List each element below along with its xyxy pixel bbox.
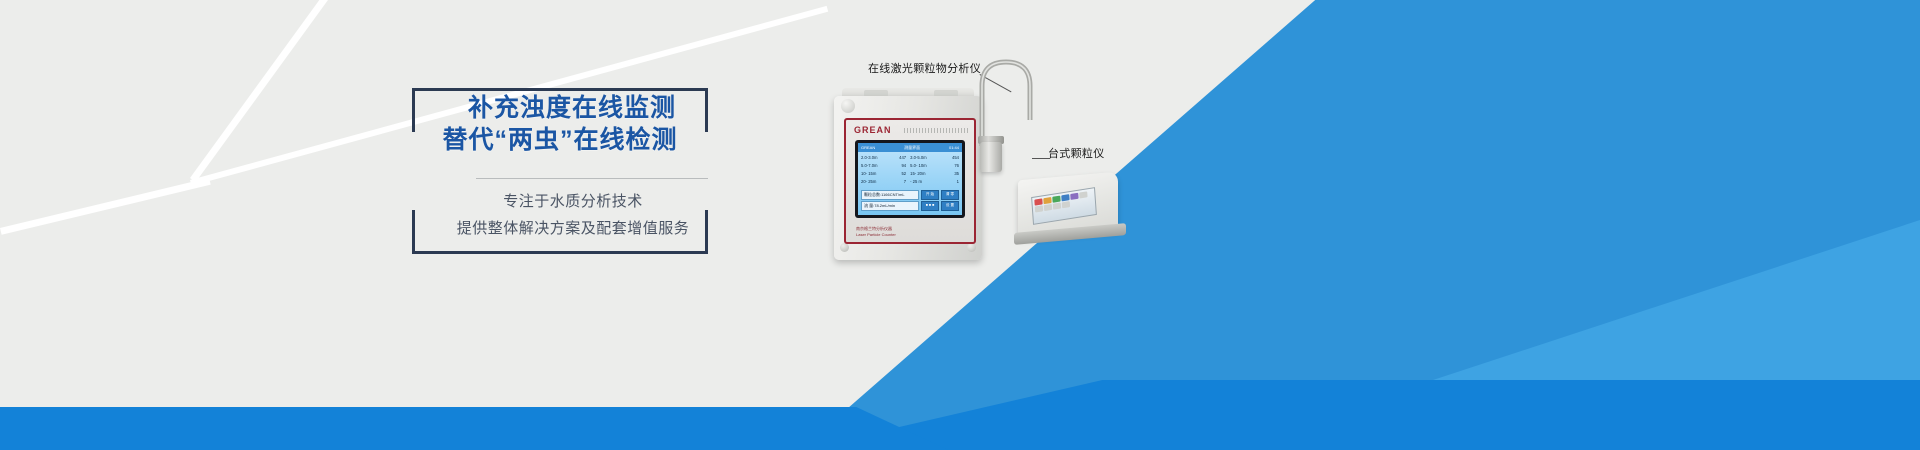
analyzer-footer-branding: 南京格兰特分析仪器 Laser Particle Counter xyxy=(856,226,896,238)
subtitle-line-2: 提供整体解决方案及配套增值服务 xyxy=(412,215,708,242)
screen-topbar: GREAN 测量界面 01:44 xyxy=(858,143,962,152)
analyzer-knob-icon xyxy=(841,99,855,113)
benchtop-key-6[interactable] xyxy=(1079,191,1087,198)
screen-table-row: 2.0-3.0m 447 3.0-5.0m 454 xyxy=(861,154,959,162)
cell-range-a: 20- 25m xyxy=(861,178,887,186)
cell-range-a: 10- 15m xyxy=(861,170,887,178)
tube-path-icon xyxy=(976,50,1046,150)
screen-settings-button[interactable]: 设 置 xyxy=(941,201,959,211)
benchtop-key-8[interactable] xyxy=(1044,204,1052,211)
cell-count-a: 94 xyxy=(887,162,906,170)
benchtop-particle-counter xyxy=(1018,166,1126,250)
callout-label-online-analyzer: 在线激光颗粒物分析仪 xyxy=(868,60,981,76)
screen-topbar-right: 01:44 xyxy=(949,145,959,150)
promo-banner: 补充浊度在线监测 替代“两虫”在线检测 专注于水质分析技术 提供整体解决方案及配… xyxy=(0,0,1920,450)
screen-footer-row: 颗粒总数:1166CNT/mL 开 始 清 零 xyxy=(861,190,959,200)
analyzer-front-panel: GREAN GREAN 测量界面 01:44 2.0-3.0m xyxy=(844,118,976,244)
headline-divider xyxy=(476,178,708,179)
cell-count-b: 35 xyxy=(940,170,959,178)
analyzer-screw-bottom-right xyxy=(967,243,976,252)
screen-start-button[interactable]: 开 始 xyxy=(921,190,939,200)
benchtop-key-7[interactable] xyxy=(1035,205,1043,212)
analyzer-enclosure: GREAN GREAN 测量界面 01:44 2.0-3.0m xyxy=(834,96,982,260)
screen-particle-table: 2.0-3.0m 447 3.0-5.0m 454 5.0-7.0m 94 5.… xyxy=(858,152,962,188)
cell-count-a: 52 xyxy=(887,170,906,178)
cell-count-a: 7 xyxy=(887,178,906,186)
headline: 补充浊度在线监测 替代“两虫”在线检测 xyxy=(412,92,708,156)
bracket-top-edge xyxy=(412,88,708,91)
screen-table-row: 5.0-7.0m 94 5.0- 10m 76 xyxy=(861,162,959,170)
cell-range-a: 5.0-7.0m xyxy=(861,162,887,170)
analyzer-footer-en: Laser Particle Counter xyxy=(856,232,896,238)
headline-line-1: 补充浊度在线监测 xyxy=(412,92,708,124)
benchtop-key-5[interactable] xyxy=(1070,193,1078,200)
callout-leader-line-2 xyxy=(1032,158,1050,159)
screen-topbar-center: 测量界面 xyxy=(904,145,920,151)
online-laser-particle-analyzer: GREAN GREAN 测量界面 01:44 2.0-3.0m xyxy=(834,88,982,268)
cell-count-b: 76 xyxy=(940,162,959,170)
inline-sensor-cylinder xyxy=(980,142,1002,172)
cell-count-b: 454 xyxy=(940,154,959,162)
screen-flow-rate-value: 流 量:78.2mL/min xyxy=(861,201,919,211)
screen-total-count-value: 颗粒总数:1166CNT/mL xyxy=(861,190,919,200)
screen-topbar-left: GREAN xyxy=(861,145,875,150)
cell-range-b: 3.0-5.0m xyxy=(906,154,940,162)
analyzer-screen-bezel: GREAN 测量界面 01:44 2.0-3.0m 447 3.0-5.0m 4… xyxy=(855,140,965,218)
screen-status-indicator: ■ ■ ■ xyxy=(921,201,939,211)
analyzer-screw-bottom-left xyxy=(840,243,849,252)
benchtop-key-9[interactable] xyxy=(1053,203,1061,210)
cell-range-a: 2.0-3.0m xyxy=(861,154,887,162)
analyzer-display-screen[interactable]: GREAN 测量界面 01:44 2.0-3.0m 447 3.0-5.0m 4… xyxy=(858,143,962,215)
screen-table-row: 20- 25m 7 - 25 m 1 xyxy=(861,178,959,186)
analyzer-vent-hatching xyxy=(904,128,968,133)
product-photo-group: 在线激光颗粒物分析仪 台式颗粒仪 GREAN xyxy=(800,40,1220,300)
cell-range-b: - 25 m xyxy=(906,178,940,186)
screen-footer-row: 流 量:78.2mL/min ■ ■ ■ 设 置 xyxy=(861,201,959,211)
sample-inlet-tube xyxy=(976,50,1046,146)
benchtop-key-10[interactable] xyxy=(1062,201,1070,208)
cell-range-b: 5.0- 10m xyxy=(906,162,940,170)
subtitle: 专注于水质分析技术 提供整体解决方案及配套增值服务 xyxy=(412,188,708,242)
cell-range-b: 15- 20m xyxy=(906,170,940,178)
analyzer-brand-logo: GREAN xyxy=(854,125,892,135)
headline-text-block: 补充浊度在线监测 替代“两虫”在线检测 专注于水质分析技术 提供整体解决方案及配… xyxy=(412,88,708,254)
screen-table-row: 10- 15m 52 15- 20m 35 xyxy=(861,170,959,178)
bracket-bottom-edge xyxy=(412,251,708,254)
cell-count-b: 1 xyxy=(940,178,959,186)
callout-label-benchtop-counter: 台式颗粒仪 xyxy=(1048,145,1105,161)
screen-reset-button[interactable]: 清 零 xyxy=(941,190,959,200)
screen-footer: 颗粒总数:1166CNT/mL 开 始 清 零 流 量:78.2mL/min ■… xyxy=(858,188,962,212)
subtitle-line-1: 专注于水质分析技术 xyxy=(412,188,708,215)
cell-count-a: 447 xyxy=(887,154,906,162)
headline-line-2: 替代“两虫”在线检测 xyxy=(412,124,708,156)
